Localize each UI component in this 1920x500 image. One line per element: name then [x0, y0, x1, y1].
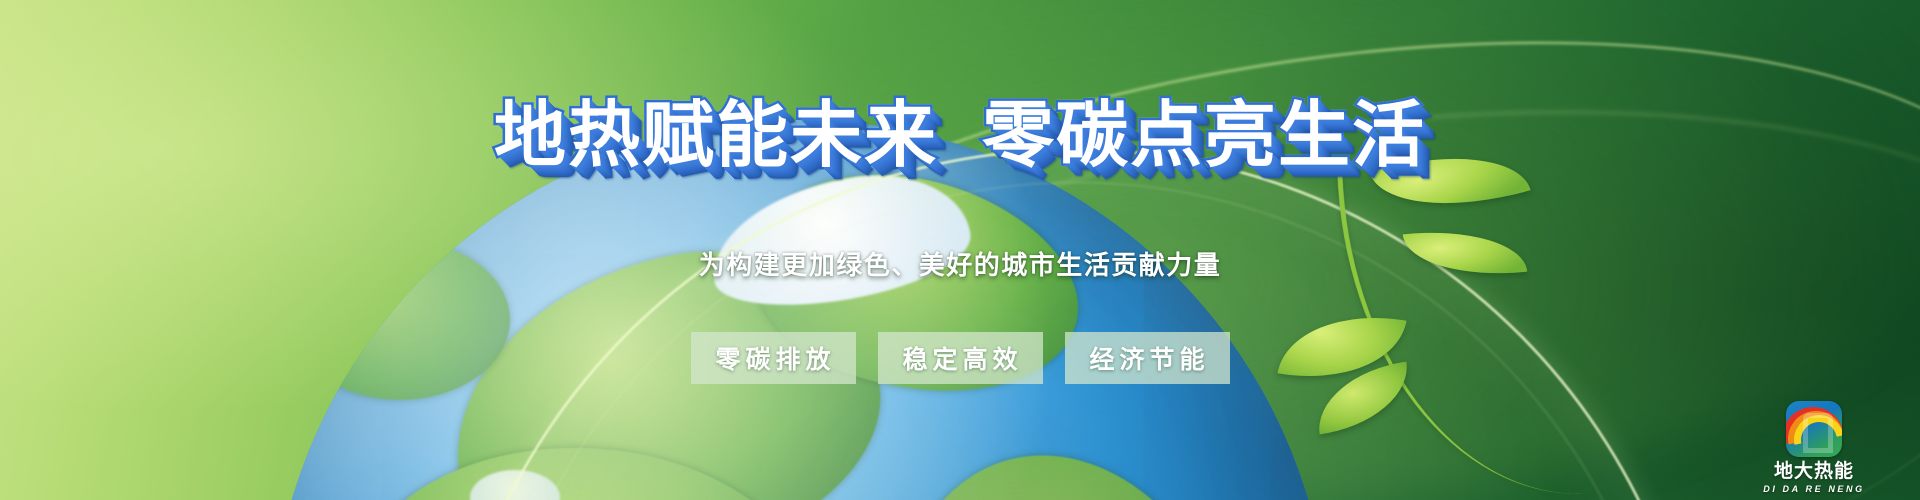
hero-banner: 地热赋能未来 零碳点亮生活 为构建更加绿色、美好的城市生活贡献力量 零碳排放 稳… — [0, 0, 1920, 500]
earth-globe — [270, 120, 1330, 500]
sprout-plant — [1255, 150, 1575, 500]
logo-name-cn: 地大热能 — [1750, 462, 1878, 482]
feature-tag-list: 零碳排放 稳定高效 经济节能 — [0, 332, 1920, 384]
feature-tag-stable-efficient[interactable]: 稳定高效 — [878, 332, 1043, 384]
logo-name-en: DI DA RE NENG — [1750, 484, 1878, 494]
page-title-text: 地热赋能未来 零碳点亮生活 — [494, 96, 1426, 176]
feature-tag-economical[interactable]: 经济节能 — [1065, 332, 1230, 384]
feature-tag-zero-carbon[interactable]: 零碳排放 — [691, 332, 856, 384]
logo-mark-icon — [1786, 401, 1842, 457]
company-logo[interactable]: 地大热能 DI DA RE NENG — [1750, 401, 1878, 494]
page-subtitle: 为构建更加绿色、美好的城市生活贡献力量 — [0, 245, 1920, 282]
logo-glyph-icon — [1803, 413, 1833, 453]
page-title: 地热赋能未来 零碳点亮生活 — [0, 100, 1920, 172]
